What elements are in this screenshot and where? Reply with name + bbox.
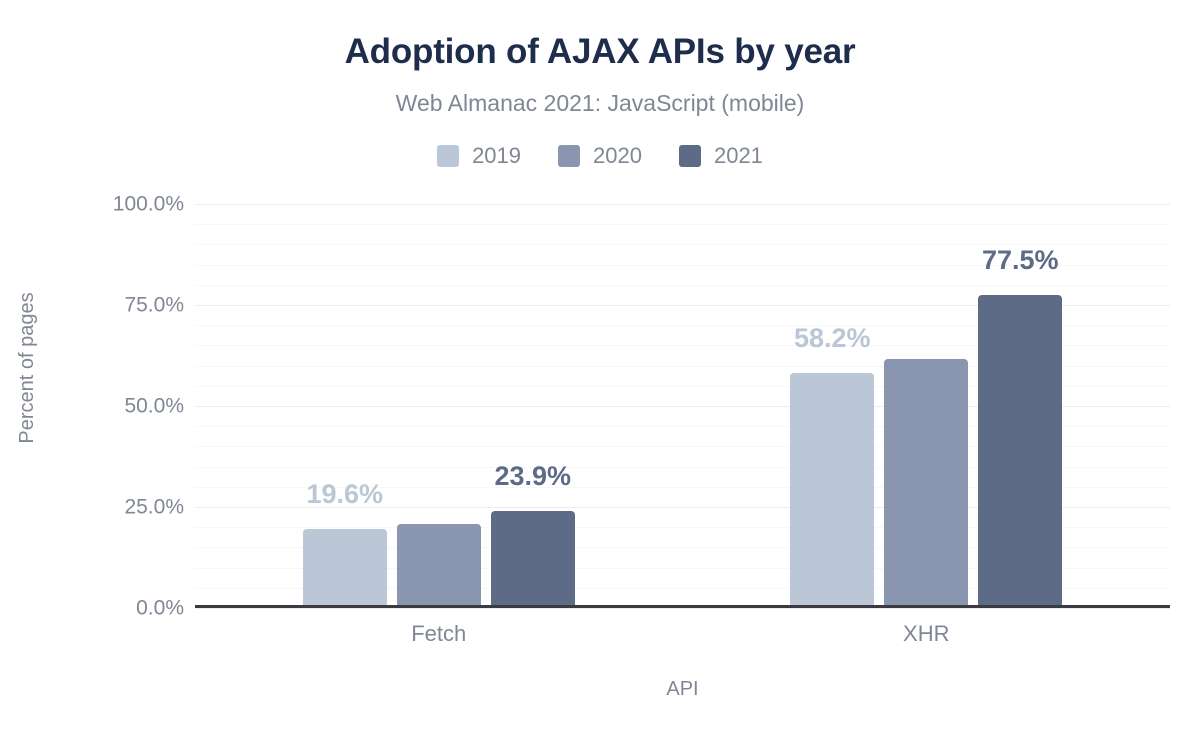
- chart-subtitle: Web Almanac 2021: JavaScript (mobile): [0, 88, 1200, 118]
- bar-Fetch-2021[interactable]: [491, 511, 575, 608]
- plot-area: 19.6%23.9%58.2%77.5%: [195, 204, 1170, 608]
- legend-label: 2019: [472, 145, 521, 167]
- bar-value-label-Fetch-2019: 19.6%: [306, 479, 383, 509]
- legend-swatch-2020: [558, 145, 580, 167]
- legend-swatch-2019: [437, 145, 459, 167]
- chart-legend: 201920202021: [0, 141, 1200, 171]
- bar-XHR-2020[interactable]: [884, 359, 968, 608]
- y-tick-label: 75.0%: [44, 295, 184, 316]
- gridline: [195, 224, 1170, 225]
- legend-item-2020[interactable]: 2020: [558, 145, 642, 167]
- y-tick-label: 50.0%: [44, 396, 184, 417]
- x-tick-label-XHR: XHR: [903, 620, 949, 648]
- gridline: [195, 204, 1170, 205]
- y-tick-label: 0.0%: [44, 598, 184, 619]
- y-axis-title: Percent of pages: [14, 218, 40, 518]
- bar-chart: Adoption of AJAX APIs by year Web Almana…: [0, 0, 1200, 742]
- bar-Fetch-2020[interactable]: [397, 524, 481, 608]
- bar-XHR-2021[interactable]: [978, 295, 1062, 608]
- gridline: [195, 285, 1170, 286]
- legend-item-2019[interactable]: 2019: [437, 145, 521, 167]
- legend-swatch-2021: [679, 145, 701, 167]
- legend-label: 2021: [714, 145, 763, 167]
- x-axis-line: [195, 605, 1170, 608]
- x-axis-title: API: [195, 676, 1170, 702]
- bar-Fetch-2019[interactable]: [303, 529, 387, 608]
- chart-title: Adoption of AJAX APIs by year: [0, 30, 1200, 74]
- x-tick-label-Fetch: Fetch: [411, 620, 466, 648]
- bar-value-label-XHR-2021: 77.5%: [982, 245, 1059, 275]
- gridline: [195, 608, 1170, 609]
- bar-value-label-Fetch-2021: 23.9%: [494, 461, 571, 491]
- y-tick-label: 25.0%: [44, 497, 184, 518]
- legend-label: 2020: [593, 145, 642, 167]
- y-tick-label: 100.0%: [44, 194, 184, 215]
- bar-XHR-2019[interactable]: [790, 373, 874, 608]
- legend-item-2021[interactable]: 2021: [679, 145, 763, 167]
- bar-value-label-XHR-2019: 58.2%: [794, 323, 871, 353]
